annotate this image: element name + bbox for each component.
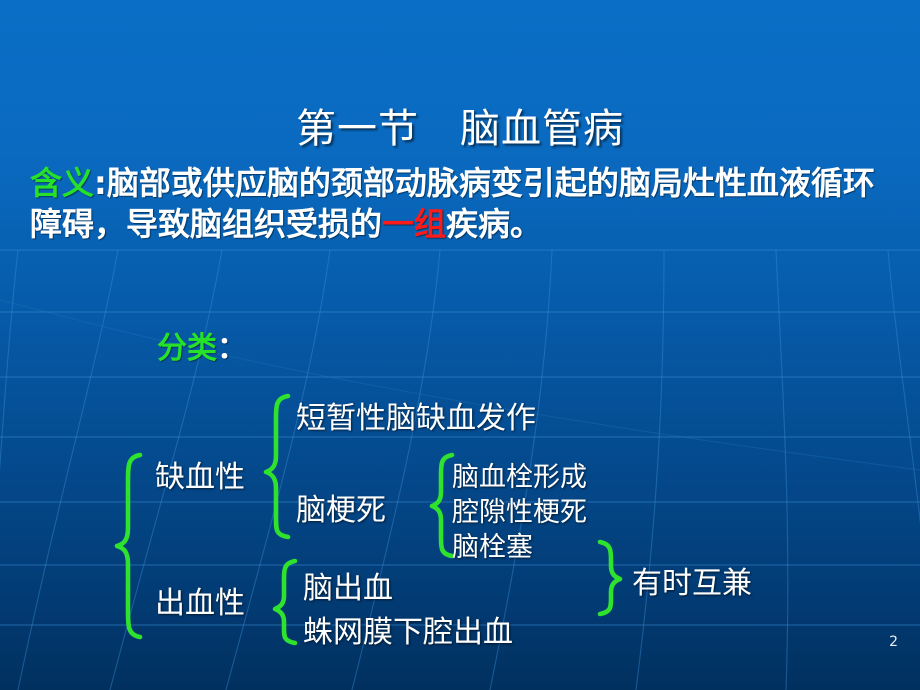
subitem-cerebral-thrombosis: 脑血栓形成 [452, 455, 587, 494]
page-number: 2 [889, 634, 898, 650]
classification-colon: ： [217, 331, 247, 366]
definition-label: 含义 [30, 164, 94, 202]
group-label-hemorrhagic: 出血性 [155, 578, 245, 622]
definition-separator: : [94, 164, 107, 202]
slide-title: 第一节 脑血管病 [0, 96, 920, 154]
definition-paragraph: 含义:脑部或供应脑的颈部动脉病变引起的脑局灶性血液循环障碍，导致脑组织受损的一组… [30, 163, 892, 245]
subitem-lacunar-infarction: 腔隙性梗死 [452, 490, 587, 529]
definition-body-second: 疾病。 [446, 205, 542, 243]
slide-canvas: 第一节 脑血管病 含义:脑部或供应脑的颈部动脉病变引起的脑局灶性血液循环障碍，导… [0, 0, 920, 690]
item-cerebral-infarction: 脑梗死 [296, 485, 386, 529]
group-label-ischemic: 缺血性 [155, 452, 245, 496]
item-subarachnoid-hemorrhage: 蛛网膜下腔出血 [303, 607, 513, 651]
side-note-sometimes-coexist: 有时互兼 [632, 558, 752, 602]
classification-heading: 分类： [157, 323, 247, 367]
subitem-cerebral-embolism: 脑栓塞 [452, 525, 533, 564]
classification-label: 分类 [157, 331, 217, 366]
item-cerebral-hemorrhage: 脑出血 [303, 563, 393, 607]
definition-highlight: 一组 [382, 205, 446, 243]
item-tia: 短暂性脑缺血发作 [296, 393, 536, 437]
